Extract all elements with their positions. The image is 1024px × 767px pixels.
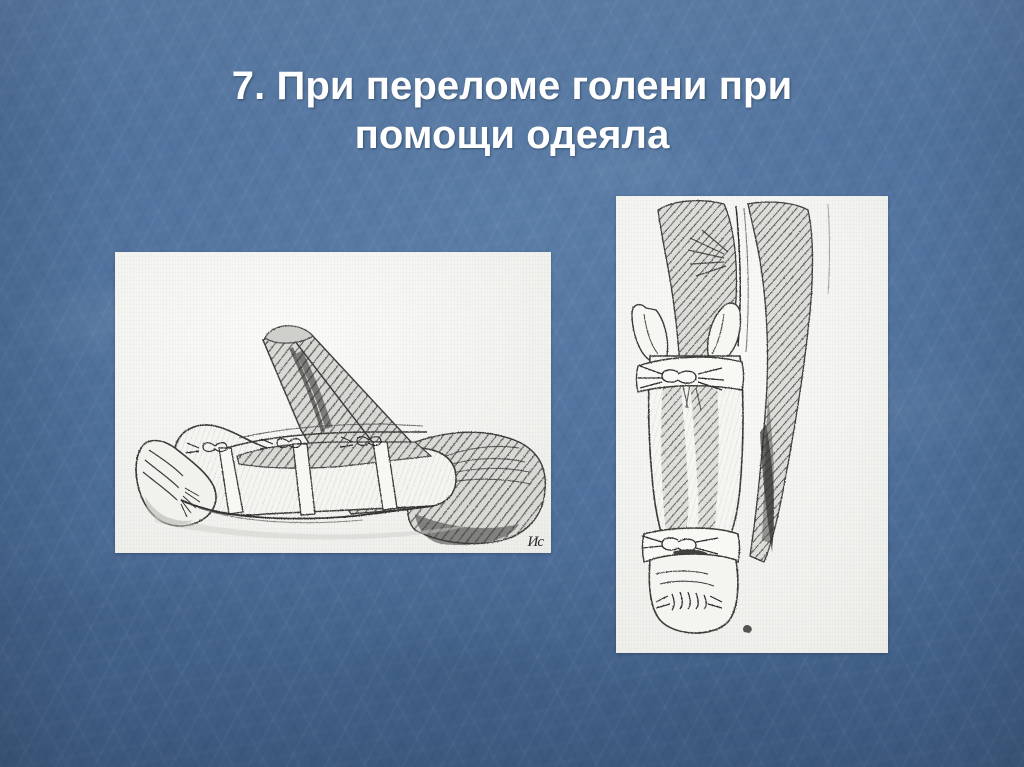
presentation-slide: 7. При переломе голени при помощи одеяла [0, 0, 1024, 767]
slide-title: 7. При переломе голени при помощи одеяла [80, 62, 944, 160]
slide-title-line-1: 7. При переломе голени при [80, 62, 944, 111]
figure-left-signature: Ис [528, 534, 544, 551]
figure-left-panel: Ис [115, 252, 551, 553]
figure-left-illustration [115, 252, 551, 553]
slide-title-line-2: помощи одеяла [80, 111, 944, 160]
figure-right-illustration [616, 196, 888, 653]
figure-right-panel [616, 196, 888, 653]
